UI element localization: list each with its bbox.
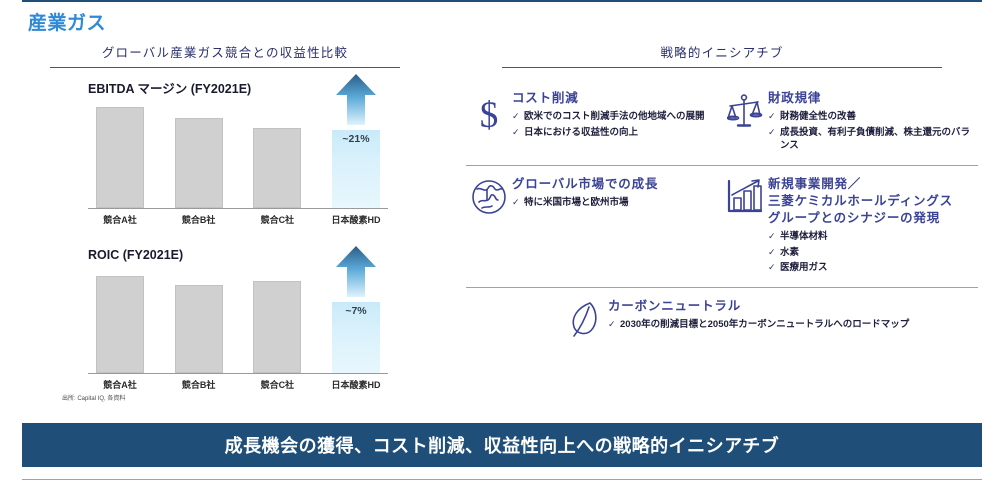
axis-category-label: 日本酸素HD <box>328 213 384 226</box>
initiative-text: カーボンニュートラル2030年の削減目標と2050年カーボンニュートラルへのロー… <box>608 298 909 334</box>
bar-chart-growth-icon <box>722 176 768 214</box>
initiative-text: グローバル市場での成長特に米国市場と欧州市場 <box>512 176 658 212</box>
initiative-card[interactable]: $コスト削減欧米でのコスト削減手法の他地域への展開日本における収益性の向上 <box>466 90 722 155</box>
bar-value-label: ~7% <box>332 305 380 317</box>
bar <box>175 118 223 208</box>
initiative-title-line: 三菱ケミカルホールディングス <box>768 193 953 210</box>
bar-highlight: ~21% <box>332 130 380 208</box>
initiative-row: カーボンニュートラル2030年の削減目標と2050年カーボンニュートラルへのロー… <box>466 287 978 350</box>
bottom-divider <box>22 479 982 480</box>
bar-slot: ~7% <box>328 262 384 373</box>
chart-roic: ~7% 競合A社競合B社競合C社日本酸素HD <box>88 262 388 391</box>
globe-icon <box>466 176 512 216</box>
initiative-title-line: 財政規律 <box>768 90 978 107</box>
leaf-icon <box>562 298 608 340</box>
bar <box>175 285 223 373</box>
axis-category-label: 競合B社 <box>171 378 227 391</box>
initiative-bullets: 半導体材料水素医療用ガス <box>768 230 953 275</box>
bar-slot <box>92 262 148 373</box>
page-title: 産業ガス <box>28 8 106 35</box>
initiative-row: $コスト削減欧米でのコスト削減手法の他地域への展開日本における収益性の向上財政規… <box>466 80 978 165</box>
initiative-title: 財政規律 <box>768 90 978 107</box>
chart-roic-axis-labels: 競合A社競合B社競合C社日本酸素HD <box>88 378 388 391</box>
initiative-bullet: 水素 <box>768 246 953 260</box>
bar-value-label: ~21% <box>332 133 380 145</box>
bar-highlight: ~7% <box>332 302 380 373</box>
axis-category-label: 競合A社 <box>92 213 148 226</box>
axis-category-label: 競合B社 <box>171 213 227 226</box>
initiative-bullet: 特に米国市場と欧州市場 <box>512 196 658 210</box>
initiative-title-line: グローバル市場での成長 <box>512 176 658 193</box>
source-note: 出所: Capital IQ, 各資料 <box>62 393 400 402</box>
initiative-card[interactable]: 新規事業開発／三菱ケミカルホールディングスグループとのシナジーの発現半導体材料水… <box>722 176 978 277</box>
initiative-card[interactable]: グローバル市場での成長特に米国市場と欧州市場 <box>466 176 722 277</box>
bar-slot: ~21% <box>328 97 384 208</box>
left-section-header: グローバル産業ガス競合との収益性比較 <box>50 42 400 67</box>
chart-roic-plot: ~7% <box>88 262 388 374</box>
initiative-text: コスト削減欧米でのコスト削減手法の他地域への展開日本における収益性の向上 <box>512 90 705 141</box>
initiative-bullet: 財務健全性の改善 <box>768 110 978 124</box>
initiative-bullets: 欧米でのコスト削減手法の他地域への展開日本における収益性の向上 <box>512 110 705 140</box>
initiative-title-line: コスト削減 <box>512 90 705 107</box>
chart-ebitda: ~21% 競合A社競合B社競合C社日本酸素HD <box>88 97 388 226</box>
axis-category-label: 競合C社 <box>249 213 305 226</box>
initiatives-grid: $コスト削減欧米でのコスト削減手法の他地域への展開日本における収益性の向上財政規… <box>466 80 978 350</box>
bar <box>96 276 144 373</box>
initiative-card[interactable]: 財政規律財務健全性の改善成長投資、有利子負債削減、株主還元のバランス <box>722 90 978 155</box>
bar <box>253 128 301 208</box>
bar-slot <box>249 262 305 373</box>
scales-icon <box>722 90 768 130</box>
initiative-title: コスト削減 <box>512 90 705 107</box>
svg-text:$: $ <box>480 95 499 136</box>
right-section-divider <box>502 67 942 68</box>
initiative-bullet: 医療用ガス <box>768 261 953 275</box>
initiative-card[interactable]: カーボンニュートラル2030年の削減目標と2050年カーボンニュートラルへのロー… <box>466 298 978 340</box>
axis-category-label: 日本酸素HD <box>328 378 384 391</box>
initiative-bullet: 半導体材料 <box>768 230 953 244</box>
bar <box>96 107 144 208</box>
profitability-comparison-panel: グローバル産業ガス競合との収益性比較 EBITDA マージン (FY2021E)… <box>50 42 400 402</box>
axis-category-label: 競合A社 <box>92 378 148 391</box>
initiative-bullets: 2030年の削減目標と2050年カーボンニュートラルへのロードマップ <box>608 318 909 332</box>
initiative-title-line: グループとのシナジーの発現 <box>768 210 953 227</box>
up-arrow-icon <box>335 245 377 302</box>
initiative-title: カーボンニュートラル <box>608 298 909 315</box>
up-arrow-icon <box>335 73 377 130</box>
initiative-row: グローバル市場での成長特に米国市場と欧州市場新規事業開発／三菱ケミカルホールディ… <box>466 165 978 287</box>
initiative-title-line: 新規事業開発／ <box>768 176 953 193</box>
initiative-title-line: カーボンニュートラル <box>608 298 909 315</box>
initiative-bullet: 欧米でのコスト削減手法の他地域への展開 <box>512 110 705 124</box>
initiative-text: 財政規律財務健全性の改善成長投資、有利子負債削減、株主還元のバランス <box>768 90 978 155</box>
initiative-title: グローバル市場での成長 <box>512 176 658 193</box>
summary-banner: 成長機会の獲得、コスト削減、収益性向上への戦略的イニシアチブ <box>22 423 982 467</box>
initiative-bullet: 日本における収益性の向上 <box>512 126 705 140</box>
bar-slot <box>249 97 305 208</box>
axis-category-label: 競合C社 <box>249 378 305 391</box>
right-section-header: 戦略的イニシアチブ <box>466 42 978 67</box>
initiative-title: 新規事業開発／三菱ケミカルホールディングスグループとのシナジーの発現 <box>768 176 953 227</box>
initiative-bullet: 成長投資、有利子負債削減、株主還元のバランス <box>768 126 978 154</box>
initiative-bullets: 特に米国市場と欧州市場 <box>512 196 658 210</box>
slide: 産業ガス グローバル産業ガス競合との収益性比較 EBITDA マージン (FY2… <box>0 0 1004 487</box>
bar <box>253 281 301 373</box>
left-section-divider <box>50 67 400 68</box>
top-divider <box>22 0 982 2</box>
initiative-bullet: 2030年の削減目標と2050年カーボンニュートラルへのロードマップ <box>608 318 909 332</box>
bar-slot <box>171 262 227 373</box>
strategic-initiatives-panel: 戦略的イニシアチブ $コスト削減欧米でのコスト削減手法の他地域への展開日本におけ… <box>466 42 978 350</box>
bar-slot <box>92 97 148 208</box>
chart-ebitda-plot: ~21% <box>88 97 388 209</box>
chart-ebitda-axis-labels: 競合A社競合B社競合C社日本酸素HD <box>88 213 388 226</box>
initiative-text: 新規事業開発／三菱ケミカルホールディングスグループとのシナジーの発現半導体材料水… <box>768 176 953 277</box>
initiative-bullets: 財務健全性の改善成長投資、有利子負債削減、株主還元のバランス <box>768 110 978 153</box>
dollar-icon: $ <box>466 90 512 136</box>
bar-slot <box>171 97 227 208</box>
